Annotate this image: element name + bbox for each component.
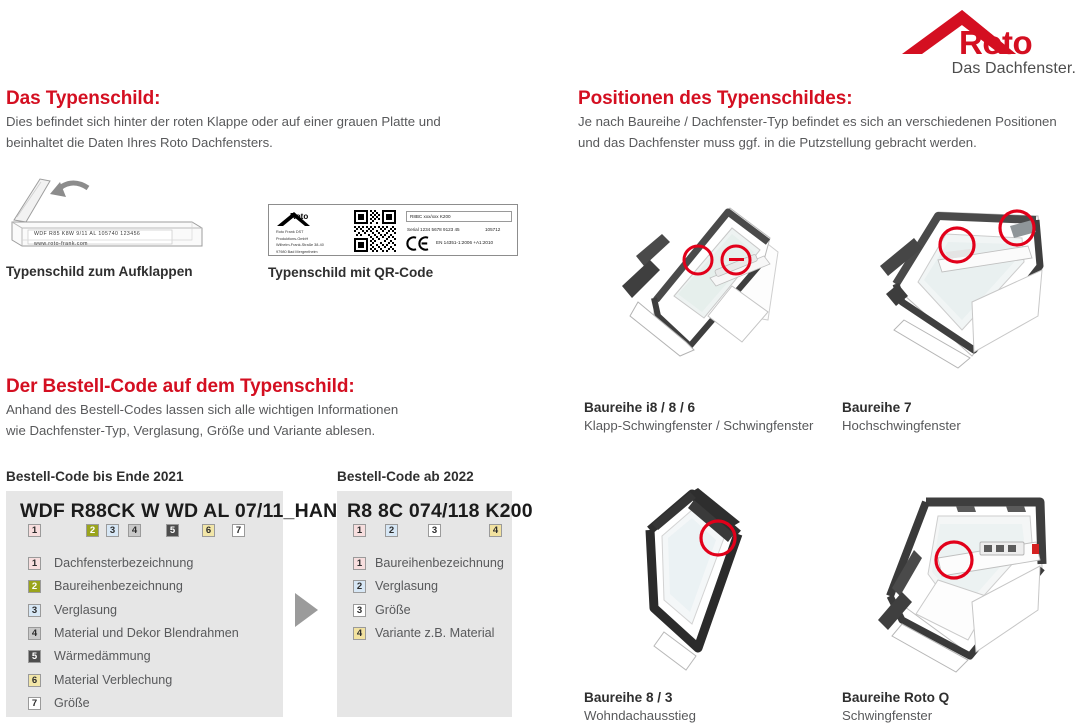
new-code-title: Bestell-Code ab 2022 (337, 469, 474, 484)
legend-badge-3: 3 (353, 604, 366, 617)
window-3-title: Baureihe 8 / 3 (584, 690, 672, 705)
logo-claim: Das Dachfenster. (952, 60, 1076, 78)
transition-arrow-icon (295, 593, 318, 627)
window-photo-1 (592, 190, 812, 370)
new-code-string: R8 8C 074/118 K200 (347, 500, 533, 523)
flap-label-line1: WDF R85 K8W 9/11 AL 105740 123456 (34, 230, 140, 240)
legend-label-2: Verglasung (375, 579, 438, 593)
roto-logo: Roto Das Dachfenster. (900, 8, 1076, 80)
typenschild-text-line2: beinhaltet die Daten Ihres Roto Dachfens… (6, 132, 273, 153)
plate-brand: Roto (290, 213, 308, 221)
code-marker-2: 2 (86, 524, 99, 537)
legend-label-5: Wärmedämmung (54, 649, 151, 663)
bestellcode-text-line2: wie Dachfenster-Typ, Verglasung, Größe u… (6, 420, 375, 441)
ce-mark-icon (406, 236, 432, 251)
plate-address: Roto Frank DST Produktions-GmbH Wilhelm-… (276, 229, 324, 256)
qr-type-plate: Roto Roto Frank DST Produktions-GmbH Wil… (268, 204, 518, 256)
new-code-box: R8 8C 074/118 K200 1234 1Baureihenbezeic… (337, 491, 512, 717)
code-marker-6: 6 (202, 524, 215, 537)
window-2-title: Baureihe 7 (842, 400, 912, 415)
code-marker-4: 4 (128, 524, 141, 537)
typenschild-text-line1: Dies befindet sich hinter der roten Klap… (6, 111, 441, 132)
plate-code-field: R8BC xxx/xxx K200 (406, 211, 512, 222)
legend-label-2: Baureihenbezeichnung (54, 579, 183, 593)
legend-label-1: Dachfensterbezeichnung (54, 556, 193, 570)
positionen-text-line1: Je nach Baureihe / Dachfenster-Typ befin… (578, 111, 1057, 132)
legend-badge-7: 7 (28, 697, 41, 710)
roof-window-drawing-1 (592, 190, 812, 370)
legend-label-7: Größe (54, 696, 90, 710)
flap-caption: Typenschild zum Aufklappen (6, 264, 193, 279)
legend-badge-3: 3 (28, 604, 41, 617)
window-3-subtitle: Wohndachausstieg (584, 708, 696, 723)
heading-typenschild: Das Typenschild: (6, 88, 160, 110)
heading-bestellcode: Der Bestell-Code auf dem Typenschild: (6, 376, 355, 398)
qr-code-icon (354, 210, 396, 252)
old-code-string: WDF R88CK W WD AL 07/11_HAN (20, 500, 337, 523)
code-marker-3: 3 (106, 524, 119, 537)
window-4-title: Baureihe Roto Q (842, 690, 949, 705)
window-photo-2 (842, 190, 1072, 370)
plate-caption: Typenschild mit QR-Code (268, 265, 433, 280)
window-2-subtitle: Hochschwingfenster (842, 418, 961, 433)
legend-badge-4: 4 (353, 627, 366, 640)
legend-badge-1: 1 (353, 557, 366, 570)
window-1-title: Baureihe i8 / 8 / 6 (584, 400, 695, 415)
code-marker-4: 4 (489, 524, 502, 537)
legend-badge-6: 6 (28, 674, 41, 687)
plate-norm: EN 14351-1:2006 +A1:2010 (436, 240, 493, 245)
legend-badge-1: 1 (28, 557, 41, 570)
window-1-subtitle: Klapp-Schwingfenster / Schwingfenster (584, 418, 813, 433)
window-photo-3 (592, 480, 822, 680)
code-marker-1: 1 (28, 524, 41, 537)
heading-positionen: Positionen des Typenschildes: (578, 88, 852, 110)
code-marker-3: 3 (428, 524, 441, 537)
flap-label-line2: www.roto-frank.com (34, 240, 140, 250)
legend-label-3: Größe (375, 603, 411, 617)
plate-code-value: R8BC xxx/xxx K200 (410, 214, 451, 219)
code-marker-7: 7 (232, 524, 245, 537)
code-marker-5: 5 (166, 524, 179, 537)
old-code-box: WDF R88CK W WD AL 07/11_HAN 1234567 1Dac… (6, 491, 283, 717)
window-4-subtitle: Schwingfenster (842, 708, 932, 723)
roof-window-drawing-3 (592, 480, 822, 680)
legend-badge-2: 2 (28, 580, 41, 593)
plate-number: 105712 (485, 227, 500, 232)
plate-serial: Serial 1234 5678 9123 45 (407, 227, 460, 232)
legend-label-4: Material und Dekor Blendrahmen (54, 626, 239, 640)
positionen-text-line2: und das Dachfenster muss ggf. in die Put… (578, 132, 977, 153)
window-photo-4 (842, 480, 1072, 680)
bestellcode-text-line1: Anhand des Bestell-Codes lassen sich all… (6, 399, 398, 420)
logo-wordmark: Roto (959, 26, 1032, 59)
flap-plate-illustration: WDF R85 K8W 9/11 AL 105740 123456 www.ro… (6, 176, 218, 258)
old-code-title: Bestell-Code bis Ende 2021 (6, 469, 184, 484)
legend-label-1: Baureihenbezeichnung (375, 556, 504, 570)
legend-label-3: Verglasung (54, 603, 117, 617)
flap-label-text: WDF R85 K8W 9/11 AL 105740 123456 www.ro… (34, 230, 140, 250)
legend-badge-4: 4 (28, 627, 41, 640)
roof-window-drawing-4 (842, 480, 1072, 680)
legend-badge-5: 5 (28, 650, 41, 663)
legend-label-6: Material Verblechung (54, 673, 172, 687)
roof-window-drawing-2 (842, 190, 1072, 370)
page-root: Roto Das Dachfenster. Das Typenschild: D… (0, 0, 1080, 723)
legend-label-4: Variante z.B. Material (375, 626, 494, 640)
legend-badge-2: 2 (353, 580, 366, 593)
code-marker-2: 2 (385, 524, 398, 537)
code-marker-1: 1 (353, 524, 366, 537)
